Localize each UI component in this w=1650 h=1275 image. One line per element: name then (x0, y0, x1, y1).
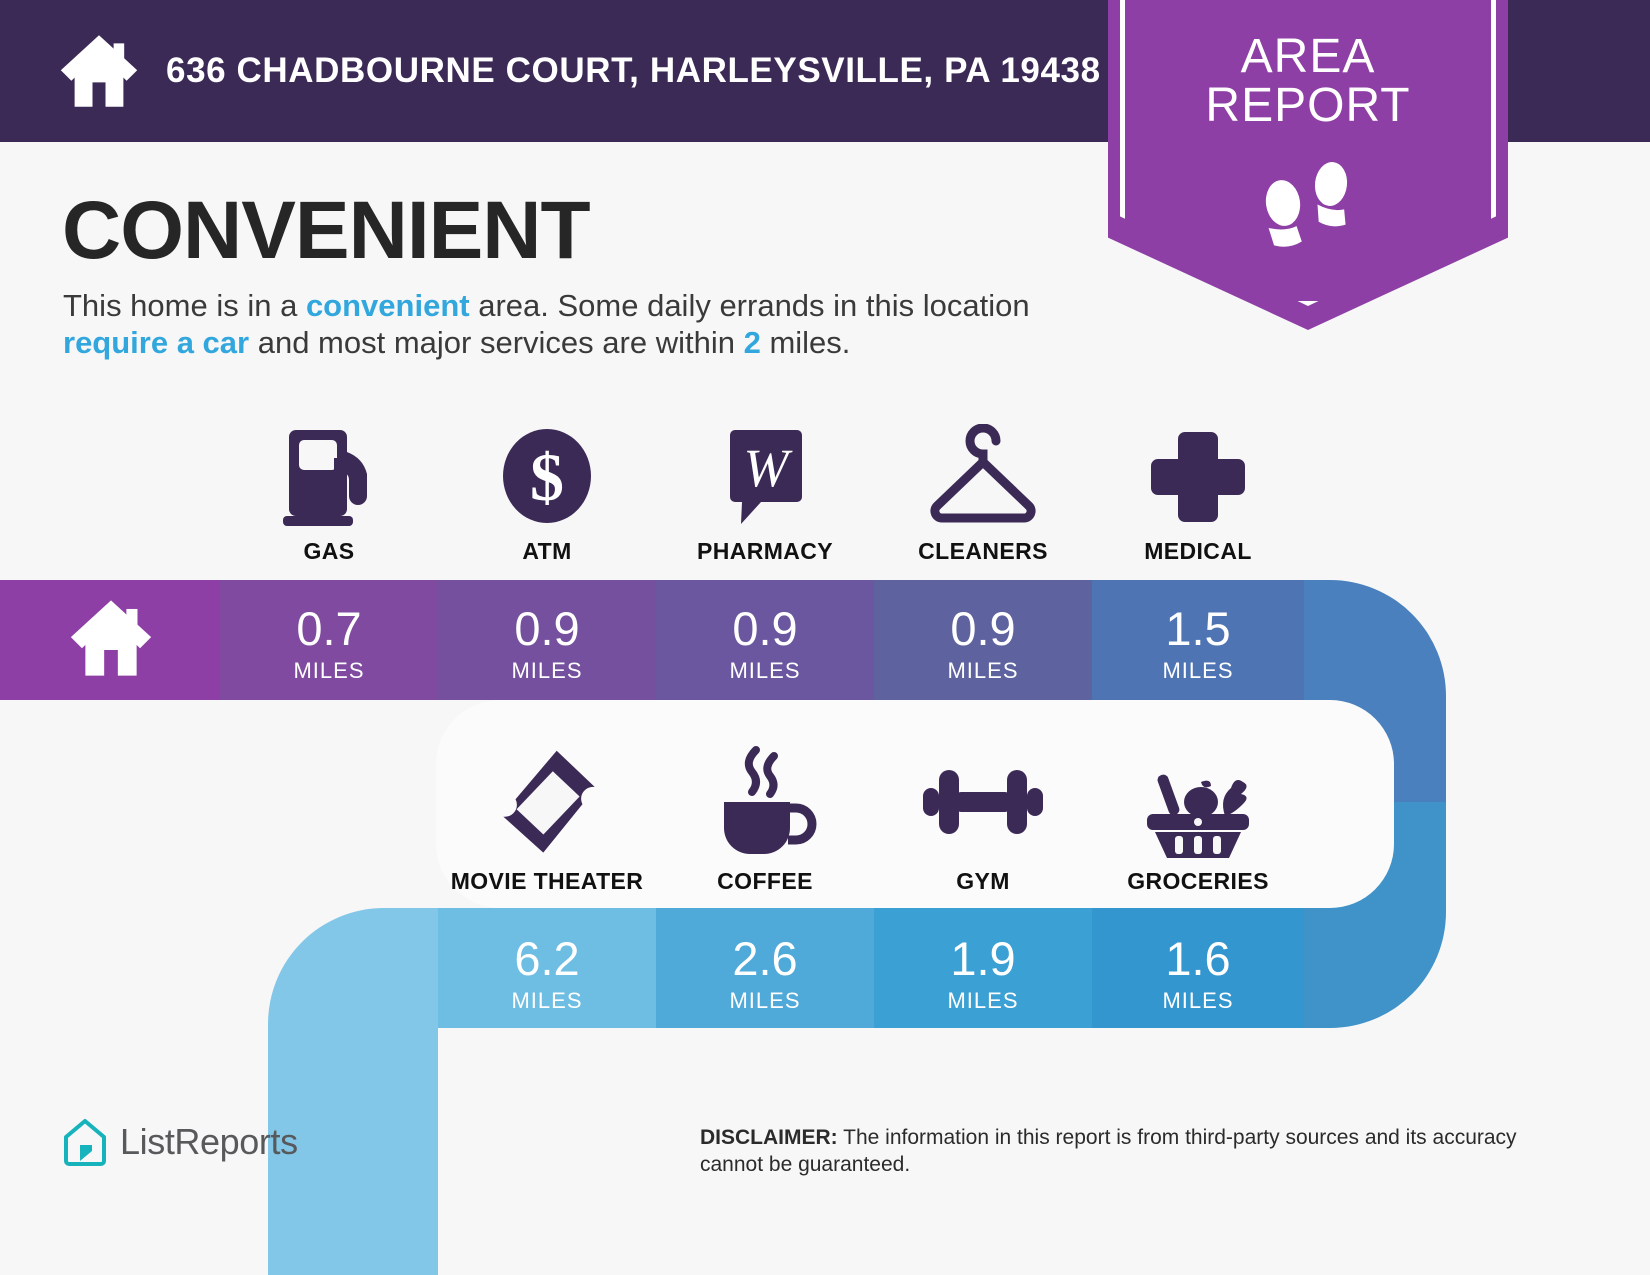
distance-gym: 1.9 MILES (874, 935, 1092, 1014)
distance-movie-theater: 6.2 MILES (438, 935, 656, 1014)
grocery-basket-icon (1092, 748, 1304, 858)
listreports-house-icon (62, 1117, 108, 1167)
listreports-logo: ListReports (62, 1117, 298, 1167)
distance-value: 2.6 (656, 935, 874, 982)
distance-value: 0.7 (220, 605, 438, 652)
distance-value: 1.6 (1092, 935, 1304, 982)
badge-line-2: REPORT (1108, 81, 1508, 130)
distance-cleaners: 0.9 MILES (874, 605, 1092, 684)
footprints-icon (1108, 160, 1508, 261)
distance-medical: 1.5 MILES (1092, 605, 1304, 684)
home-icon-marker (68, 597, 154, 679)
distance-unit: MILES (874, 658, 1092, 684)
service-label: GYM (874, 868, 1092, 895)
distance-gas: 0.7 MILES (220, 605, 438, 684)
distance-groceries: 1.6 MILES (1092, 935, 1304, 1014)
distance-pharmacy: 0.9 MILES (656, 605, 874, 684)
movie-ticket-icon (438, 748, 656, 858)
distance-unit: MILES (1092, 658, 1304, 684)
service-label: COFFEE (656, 868, 874, 895)
distance-unit: MILES (656, 988, 874, 1014)
listreports-wordmark: ListReports (120, 1121, 298, 1163)
service-pharmacy: W PHARMACY (656, 418, 874, 565)
distance-unit: MILES (220, 658, 438, 684)
service-atm: $ ATM (438, 418, 656, 565)
service-label: CLEANERS (874, 538, 1092, 565)
badge-title: AREA REPORT (1108, 32, 1508, 131)
medical-cross-icon (1092, 418, 1304, 528)
service-label: MEDICAL (1092, 538, 1304, 565)
clothes-hanger-icon (874, 418, 1092, 528)
service-groceries: GROCERIES (1092, 748, 1304, 895)
distance-unit: MILES (438, 988, 656, 1014)
walgreens-w-icon: W (656, 418, 874, 528)
service-label: GAS (220, 538, 438, 565)
service-coffee: COFFEE (656, 748, 874, 895)
distance-atm: 0.9 MILES (438, 605, 656, 684)
service-gas: GAS (220, 418, 438, 565)
service-cleaners: CLEANERS (874, 418, 1092, 565)
distance-value: 0.9 (438, 605, 656, 652)
distance-value: 0.9 (874, 605, 1092, 652)
distance-unit: MILES (438, 658, 656, 684)
coffee-cup-icon (656, 748, 874, 858)
dumbbell-icon (874, 748, 1092, 858)
distance-unit: MILES (1092, 988, 1304, 1014)
distance-coffee: 2.6 MILES (656, 935, 874, 1014)
distance-value: 0.9 (656, 605, 874, 652)
dollar-circle-icon: $ (438, 418, 656, 528)
distance-value: 1.9 (874, 935, 1092, 982)
service-label: MOVIE THEATER (438, 868, 656, 895)
service-label: PHARMACY (656, 538, 874, 565)
svg-text:W: W (744, 438, 794, 498)
service-label: GROCERIES (1092, 868, 1304, 895)
distance-unit: MILES (874, 988, 1092, 1014)
distance-value: 6.2 (438, 935, 656, 982)
disclaimer-label: DISCLAIMER: (700, 1126, 838, 1149)
gas-pump-icon (220, 418, 438, 528)
service-label: ATM (438, 538, 656, 565)
distance-unit: MILES (656, 658, 874, 684)
left-downturn-tail (268, 908, 438, 1275)
svg-text:$: $ (530, 439, 564, 515)
service-movie-theater: MOVIE THEATER (438, 748, 656, 895)
service-gym: GYM (874, 748, 1092, 895)
badge-line-1: AREA (1108, 32, 1508, 81)
distance-value: 1.5 (1092, 605, 1304, 652)
service-medical: MEDICAL (1092, 418, 1304, 565)
disclaimer: DISCLAIMER: The information in this repo… (700, 1124, 1520, 1179)
